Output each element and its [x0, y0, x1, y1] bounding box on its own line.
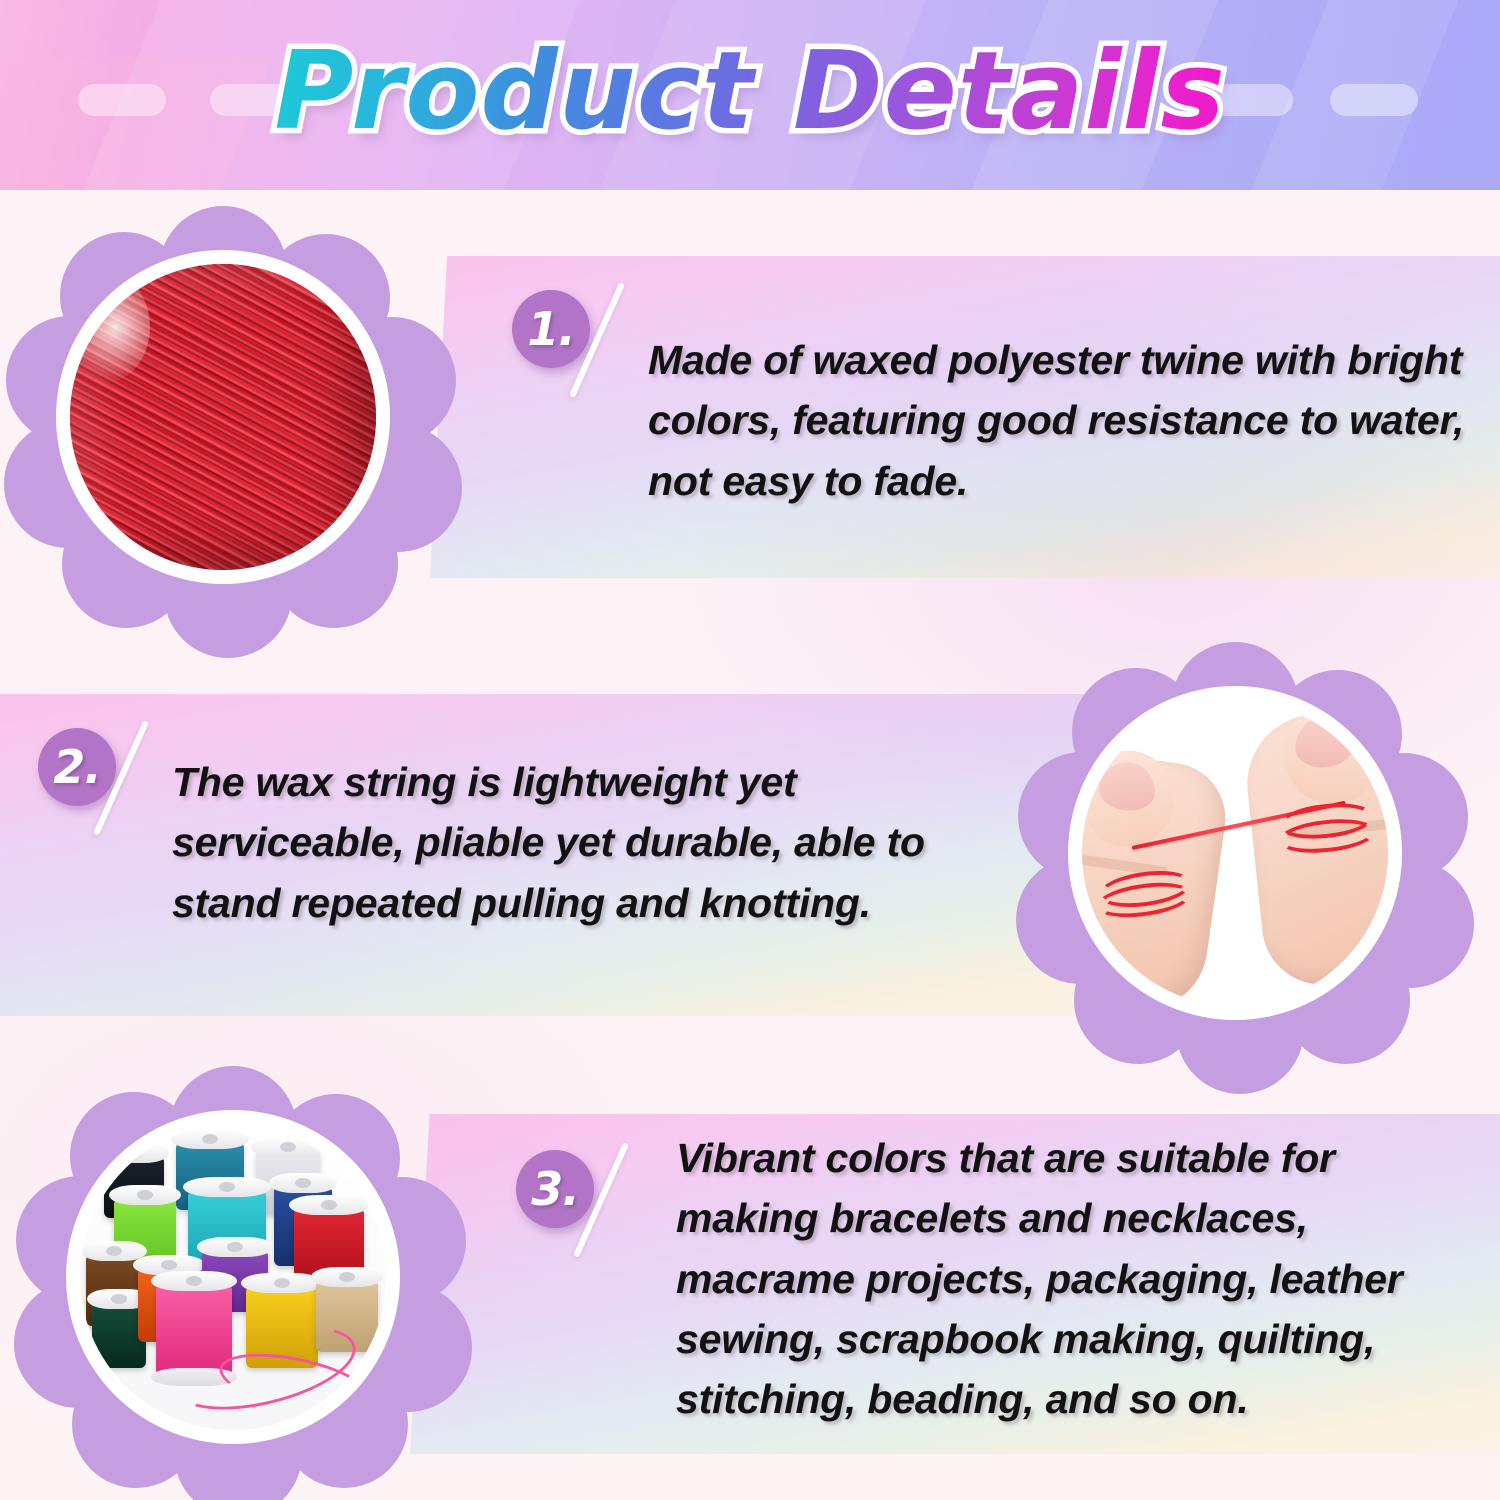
page-title: Product Details Product Details: [0, 38, 1500, 146]
feature-row-1: 1. Made of waxed polyester twine with br…: [0, 190, 1500, 640]
feature-text-2: The wax string is lightweight yet servic…: [172, 752, 1032, 933]
feature-number-badge-2: 2.: [38, 728, 116, 806]
feature-image-3: [28, 1072, 438, 1482]
photo-hands-pulling-string: [1082, 700, 1388, 1006]
feature-image-2: [1030, 648, 1440, 1058]
photo-red-twine: [70, 264, 376, 570]
header-banner: Product Details Product Details: [0, 0, 1500, 190]
feature-text-3: Vibrant colors that are suitable for mak…: [676, 1128, 1476, 1429]
feature-number-badge-3: 3.: [516, 1150, 594, 1228]
feature-number-badge-1: 1.: [512, 290, 590, 368]
page-title-text: Product Details: [274, 29, 1225, 154]
photo-color-spools: [80, 1124, 386, 1430]
feature-row-2: 2. The wax string is lightweight yet ser…: [0, 640, 1500, 1050]
feature-row-3: 3. Vibrant colors that are suitable for …: [0, 1050, 1500, 1500]
feature-text-1: Made of waxed polyester twine with brigh…: [648, 330, 1478, 511]
feature-image-1: [18, 212, 428, 622]
product-details-infographic: Product Details Product Details: [0, 0, 1500, 1500]
